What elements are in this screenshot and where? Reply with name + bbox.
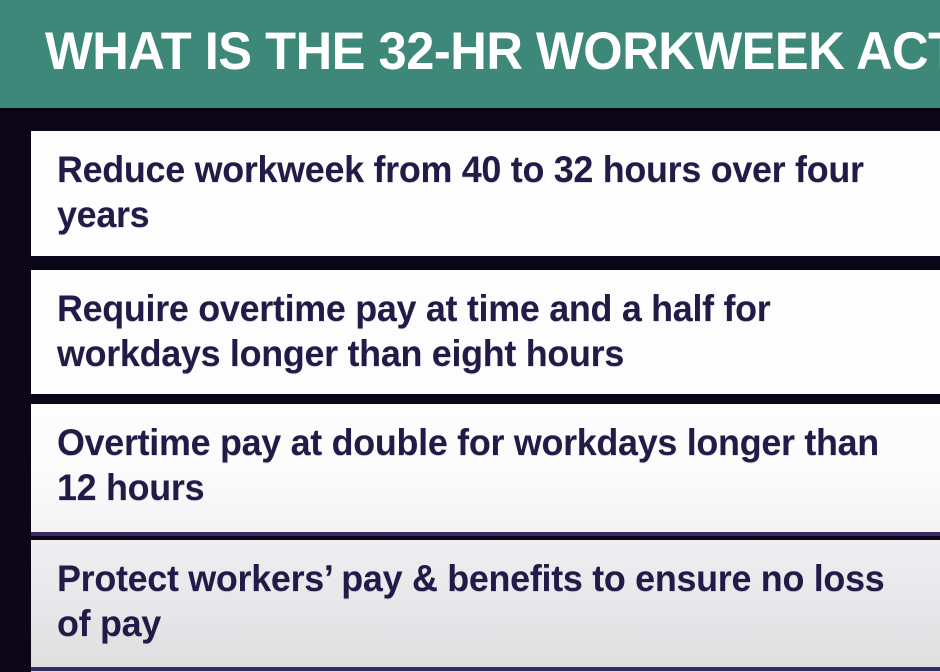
point-item-1: Reduce workweek from 40 to 32 hours over… (31, 131, 940, 256)
point-text-3: Overtime pay at double for workdays long… (57, 420, 896, 510)
point-text-2: Require overtime pay at time and a half … (57, 286, 896, 376)
page-title: WHAT IS THE 32-HR WORKWEEK ACT (45, 22, 885, 82)
header-banner: WHAT IS THE 32-HR WORKWEEK ACT (0, 0, 940, 108)
point-text-1: Reduce workweek from 40 to 32 hours over… (57, 147, 896, 237)
header-divider (0, 108, 940, 111)
infographic-root: WHAT IS THE 32-HR WORKWEEK ACT Reduce wo… (0, 0, 940, 672)
point-item-2: Require overtime pay at time and a half … (31, 270, 940, 394)
gutter-2 (0, 394, 940, 404)
point-item-4: Protect workers’ pay & benefits to ensur… (31, 540, 940, 672)
point-divider-3 (31, 532, 940, 536)
gutter-1 (0, 256, 940, 270)
point-divider-4 (31, 667, 940, 671)
point-item-3: Overtime pay at double for workdays long… (31, 404, 940, 532)
point-text-4: Protect workers’ pay & benefits to ensur… (57, 556, 896, 646)
